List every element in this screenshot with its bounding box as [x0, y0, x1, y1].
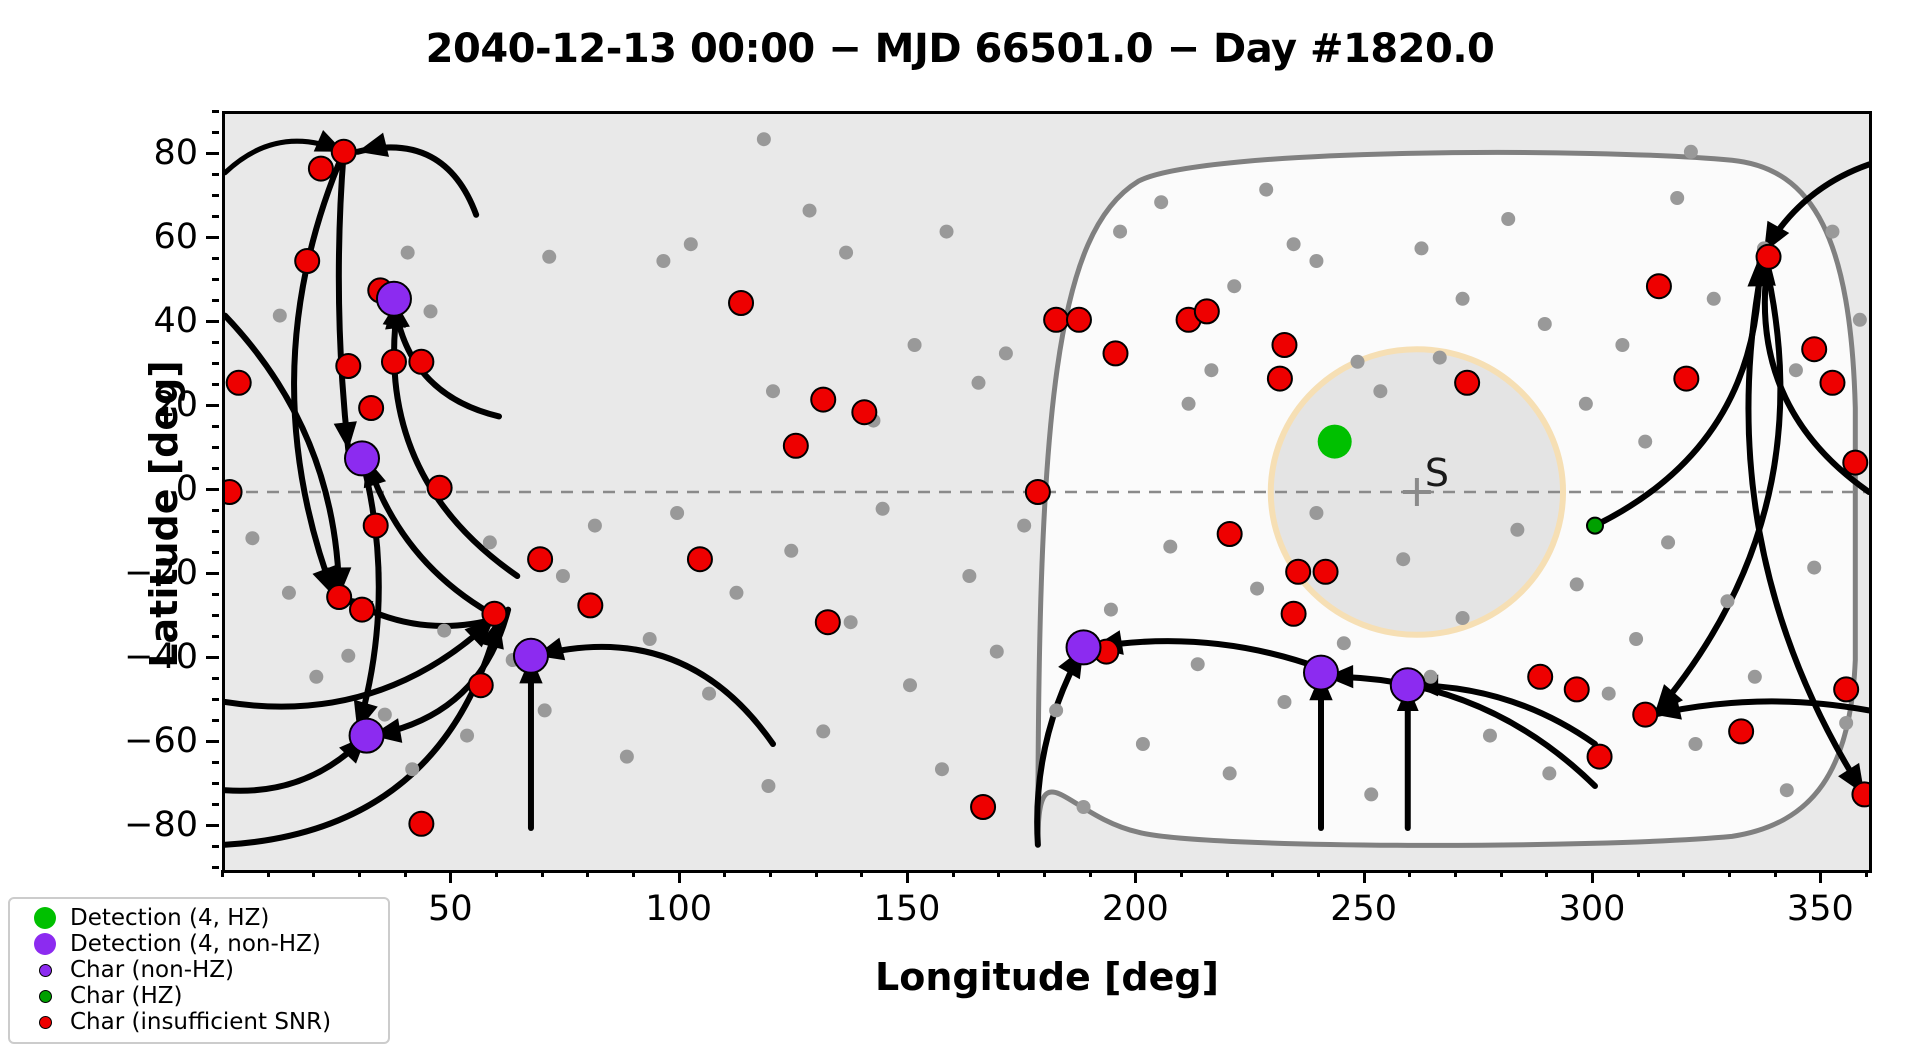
data-point [1684, 145, 1698, 159]
data-point [990, 645, 1004, 659]
data-point [1424, 670, 1438, 684]
figure-canvas: 2040-12-13 00:00 − MJD 66501.0 − Day #18… [0, 0, 1920, 1050]
data-point [1191, 657, 1205, 671]
data-point [295, 249, 319, 273]
data-point [1337, 636, 1351, 650]
data-point [309, 670, 323, 684]
y-tick-label: 40 [60, 301, 198, 341]
data-point [1757, 245, 1781, 269]
legend-swatch [39, 964, 52, 977]
data-point [1396, 552, 1410, 566]
data-point [225, 480, 242, 504]
data-point [1729, 719, 1753, 743]
y-tick-major [206, 320, 219, 323]
data-point [1044, 308, 1068, 332]
legend-item[interactable]: Char (non-HZ) [22, 957, 378, 983]
data-point [273, 309, 287, 323]
data-point [350, 719, 384, 753]
data-point [1455, 371, 1479, 395]
data-point [1780, 783, 1794, 797]
data-point [999, 346, 1013, 360]
y-tick-label: −20 [60, 553, 198, 593]
plot-area: S [222, 111, 1872, 873]
data-point [1017, 519, 1031, 533]
data-point [1852, 782, 1869, 806]
data-point [1853, 313, 1867, 327]
page-title: 2040-12-13 00:00 − MJD 66501.0 − Day #18… [0, 26, 1920, 72]
data-point [1204, 363, 1218, 377]
y-tick-minor [212, 551, 219, 554]
data-point [1638, 435, 1652, 449]
slew-path [339, 152, 348, 450]
sun-label: S [1425, 451, 1449, 495]
data-point [852, 400, 876, 424]
data-point [327, 585, 351, 609]
data-point [729, 291, 753, 315]
y-tick-minor [212, 362, 219, 365]
data-point [1259, 183, 1273, 197]
x-tick-label: 200 [1102, 889, 1169, 929]
data-point [1182, 397, 1196, 411]
legend-label: Char (non-HZ) [68, 957, 234, 983]
data-point [1227, 279, 1241, 293]
data-point [903, 678, 917, 692]
data-point [816, 724, 830, 738]
data-point [377, 282, 411, 316]
data-point [1748, 670, 1762, 684]
x-tick-label: 50 [428, 889, 473, 929]
data-point [245, 531, 259, 545]
x-tick-label: 100 [645, 889, 712, 929]
data-point [620, 750, 634, 764]
data-point [1136, 737, 1150, 751]
data-point [1802, 337, 1826, 361]
data-point [1104, 341, 1128, 365]
data-point [1510, 523, 1524, 537]
data-point [688, 547, 712, 571]
data-point [940, 225, 954, 239]
legend-marker-detection-hz-icon [22, 907, 68, 929]
y-tick-minor [212, 131, 219, 134]
data-point [483, 535, 497, 549]
y-tick-minor [212, 761, 219, 764]
data-point [341, 649, 355, 663]
data-point [784, 544, 798, 558]
data-point [816, 610, 840, 634]
y-tick-minor [212, 719, 219, 722]
data-point [1049, 703, 1063, 717]
y-tick-major [206, 572, 219, 575]
slew-path [536, 647, 773, 744]
data-point [350, 598, 374, 622]
data-point [1077, 800, 1091, 814]
data-point [1629, 632, 1643, 646]
data-point [405, 762, 419, 776]
data-point [1570, 577, 1584, 591]
legend-marker-char-nonhz-icon [22, 964, 68, 977]
data-point [401, 246, 415, 260]
slew-path [225, 618, 494, 707]
data-point [1304, 656, 1338, 690]
data-point [684, 237, 698, 251]
data-point [784, 434, 808, 458]
data-point [908, 338, 922, 352]
data-point [1433, 351, 1447, 365]
y-tick-minor [212, 341, 219, 344]
y-tick-major [206, 488, 219, 491]
data-point [1565, 677, 1589, 701]
legend-label: Detection (4, HZ) [68, 905, 269, 931]
legend-item[interactable]: Char (insufficient SNR) [22, 1009, 378, 1035]
x-tick-label: 300 [1559, 889, 1626, 929]
data-point [469, 673, 493, 697]
data-point [702, 687, 716, 701]
y-tick-minor [212, 299, 219, 302]
data-point [409, 350, 433, 374]
legend-swatch [39, 990, 52, 1003]
x-axis-label: Longitude [deg] [222, 955, 1872, 999]
data-point [359, 396, 383, 420]
data-point [1839, 716, 1853, 730]
legend-label: Detection (4, non-HZ) [68, 931, 321, 957]
data-point [1250, 582, 1264, 596]
data-point [382, 350, 406, 374]
data-point [962, 569, 976, 583]
data-point [1163, 540, 1177, 554]
data-point [1351, 355, 1365, 369]
data-point [542, 250, 556, 264]
data-point [1113, 225, 1127, 239]
y-tick-minor [212, 467, 219, 470]
legend-swatch [34, 907, 56, 929]
data-point [1026, 480, 1050, 504]
data-point [282, 586, 296, 600]
data-point [428, 476, 452, 500]
y-tick-minor [212, 257, 219, 260]
data-point [876, 502, 890, 516]
legend-item[interactable]: Detection (4, HZ) [22, 905, 378, 931]
y-tick-minor [212, 803, 219, 806]
data-point [1789, 363, 1803, 377]
y-tick-major [206, 404, 219, 407]
y-tick-major [206, 152, 219, 155]
data-point [345, 441, 379, 475]
y-tick-minor [212, 866, 219, 869]
data-point [1579, 397, 1593, 411]
data-point [1688, 737, 1702, 751]
legend-label: Char (HZ) [68, 983, 183, 1009]
data-point [1633, 703, 1657, 727]
data-point [1223, 766, 1237, 780]
y-tick-major [206, 824, 219, 827]
data-point [336, 354, 360, 378]
data-point [556, 569, 570, 583]
y-tick-minor [212, 425, 219, 428]
y-tick-label: 60 [60, 217, 198, 257]
y-tick-minor [212, 635, 219, 638]
x-tick-label: 350 [1787, 889, 1854, 929]
y-tick-label: −40 [60, 637, 198, 677]
y-tick-label: 80 [60, 133, 198, 173]
data-point [972, 376, 986, 390]
data-point [935, 762, 949, 776]
data-point [766, 384, 780, 398]
data-point [1825, 225, 1839, 239]
legend-label: Char (insufficient SNR) [68, 1009, 331, 1035]
y-tick-minor [212, 845, 219, 848]
data-point [482, 602, 506, 626]
legend-box: Detection (4, HZ) Detection (4, non-HZ) … [8, 897, 390, 1044]
y-tick-minor [212, 278, 219, 281]
y-tick-minor [212, 509, 219, 512]
data-point [409, 812, 433, 836]
legend-item[interactable]: Detection (4, non-HZ) [22, 931, 378, 957]
y-tick-minor [212, 446, 219, 449]
data-point [227, 371, 251, 395]
sky-regions-group [1038, 152, 1855, 845]
data-point [1456, 292, 1470, 306]
y-tick-minor [212, 677, 219, 680]
data-point [729, 586, 743, 600]
data-point [1195, 299, 1219, 323]
data-point [1272, 333, 1296, 357]
y-tick-minor [212, 698, 219, 701]
y-tick-major [206, 740, 219, 743]
data-point [578, 593, 602, 617]
legend-marker-detection-nonhz-icon [22, 933, 68, 955]
data-point [1707, 292, 1721, 306]
data-point [437, 624, 451, 638]
data-point [1286, 560, 1310, 584]
data-point [1154, 195, 1168, 209]
y-tick-label: −80 [60, 805, 198, 845]
data-point [1538, 317, 1552, 331]
data-point [1834, 677, 1858, 701]
y-tick-label: 0 [60, 469, 198, 509]
data-point [1287, 237, 1301, 251]
slew-path [357, 147, 476, 214]
data-point [378, 708, 392, 722]
data-point [1318, 425, 1352, 459]
data-point [1647, 274, 1671, 298]
data-point [761, 779, 775, 793]
data-point [1104, 603, 1118, 617]
y-tick-minor [212, 593, 219, 596]
x-tick-label: 250 [1330, 889, 1397, 929]
data-point [1218, 522, 1242, 546]
data-point [1615, 338, 1629, 352]
data-point [1661, 535, 1675, 549]
y-tick-major [206, 656, 219, 659]
legend-swatch [39, 1016, 52, 1029]
data-point [971, 795, 995, 819]
data-point [1067, 630, 1101, 664]
data-point [1309, 506, 1323, 520]
y-tick-major [206, 236, 219, 239]
data-point [1364, 787, 1378, 801]
data-point [1314, 560, 1338, 584]
data-point [364, 514, 388, 538]
y-tick-minor [212, 110, 219, 113]
data-point [460, 729, 474, 743]
data-point [1587, 518, 1603, 534]
data-point [1674, 367, 1698, 391]
data-point [538, 703, 552, 717]
data-point [1528, 665, 1552, 689]
data-point [424, 304, 438, 318]
data-point [528, 547, 552, 571]
x-tick-label: 150 [874, 889, 941, 929]
data-point [844, 615, 858, 629]
data-point [1820, 371, 1844, 395]
data-point [1277, 695, 1291, 709]
data-point [1542, 766, 1556, 780]
data-point [1391, 668, 1425, 702]
legend-marker-char-lowsnr-icon [22, 1016, 68, 1029]
y-tick-label: 20 [60, 385, 198, 425]
data-point [514, 639, 548, 673]
data-point [803, 204, 817, 218]
y-tick-minor [212, 530, 219, 533]
data-point [1588, 745, 1612, 769]
data-point [1414, 241, 1428, 255]
slew-path [394, 299, 517, 576]
y-tick-minor [212, 215, 219, 218]
y-tick-minor [212, 782, 219, 785]
data-point [1456, 611, 1470, 625]
data-point [1670, 191, 1684, 205]
y-tick-minor [212, 614, 219, 617]
data-point [670, 506, 684, 520]
legend-item[interactable]: Char (HZ) [22, 983, 378, 1009]
data-point [1373, 384, 1387, 398]
data-point [643, 632, 657, 646]
data-point [839, 246, 853, 260]
data-point [811, 388, 835, 412]
data-point [656, 254, 670, 268]
data-point [1282, 602, 1306, 626]
data-point [1807, 561, 1821, 575]
legend-swatch [34, 933, 56, 955]
data-point [1843, 451, 1867, 475]
data-point [309, 157, 333, 181]
data-point [1483, 729, 1497, 743]
data-point [1602, 687, 1616, 701]
data-point [1309, 254, 1323, 268]
y-tick-minor [212, 383, 219, 386]
data-point [588, 519, 602, 533]
data-point [1501, 212, 1515, 226]
data-point [1067, 308, 1091, 332]
data-point [1268, 367, 1292, 391]
scatter-plot-svg: S [225, 114, 1869, 870]
data-point [1720, 594, 1734, 608]
legend-marker-char-hz-icon [22, 990, 68, 1003]
y-tick-minor [212, 194, 219, 197]
y-tick-label: −60 [60, 721, 198, 761]
y-tick-minor [212, 173, 219, 176]
data-point [332, 140, 356, 164]
data-point [757, 132, 771, 146]
slew-path [225, 736, 367, 791]
